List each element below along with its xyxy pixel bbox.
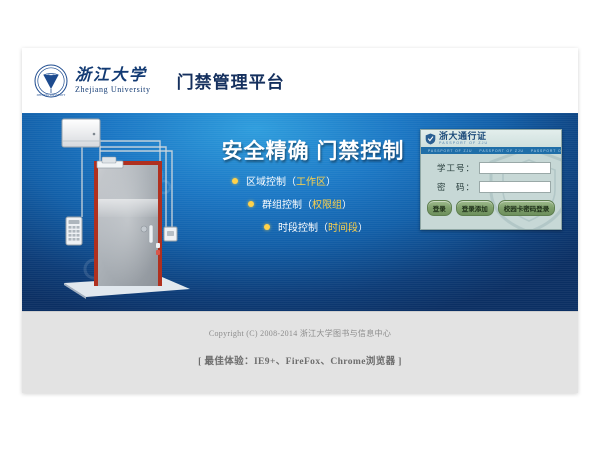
staff-id-input[interactable] [479, 162, 551, 174]
site-header: ZHEJIANG UNIVERSITY 浙江大学 Zhejiang Univer… [22, 48, 578, 113]
stripe-text: PASSPORT OF ZJU [428, 149, 472, 153]
password-input[interactable] [479, 181, 551, 193]
login-panel-header: 浙大通行证 PASSPORT OF ZJU [421, 130, 561, 147]
feature-highlight: 时间段 [328, 219, 358, 234]
university-name-en: Zhejiang University [75, 86, 151, 94]
login-panel-stripe: PASSPORT OF ZJU PASSPORT OF ZJU PASSPORT… [421, 147, 561, 154]
stripe-text: PASSPORT OF ZJU [531, 149, 561, 153]
copyright-text: Copyright (C) 2008-2014 浙江大学图书与信息中心 [209, 328, 391, 339]
password-row: 密 码： [427, 181, 555, 193]
university-name-cn: 浙江大学 [75, 68, 151, 84]
feature-suffix: ） [342, 196, 352, 211]
browser-recommendation-text: [ 最佳体验：IE9+、FireFox、Chrome浏览器 ] [198, 353, 402, 367]
login-panel: 浙大通行证 PASSPORT OF ZJU PASSPORT OF ZJU PA… [420, 129, 562, 230]
feature-suffix: ） [358, 219, 368, 234]
feature-highlight: 权限组 [312, 196, 342, 211]
feature-item-group-control: 群组控制（ 权限组 ） [208, 196, 418, 211]
page-root: ZHEJIANG UNIVERSITY 浙江大学 Zhejiang Univer… [0, 0, 600, 450]
staff-id-row: 学工号： [427, 162, 555, 174]
feature-suffix: ） [326, 173, 336, 188]
feature-item-area-control: 区域控制（ 工作区 ） [208, 173, 418, 188]
login-button-row: 登录 登录添加 校园卡密码登录 [427, 200, 555, 216]
login-panel-title-en: PASSPORT OF ZJU [439, 142, 488, 146]
stripe-text: PASSPORT OF ZJU [479, 149, 523, 153]
staff-id-label: 学工号： [427, 162, 479, 174]
login-panel-title-cn: 浙大通行证 [439, 132, 488, 141]
banner-slogan: 安全精确 门禁控制 [208, 135, 418, 165]
feature-highlight: 工作区 [296, 173, 326, 188]
site-container: ZHEJIANG UNIVERSITY 浙江大学 Zhejiang Univer… [22, 48, 578, 393]
feature-label: 群组控制（ [262, 196, 312, 211]
banner-slogan-block: 安全精确 门禁控制 区域控制（ 工作区 ） 群组控制（ 权限组 ） 时段控制（ [208, 135, 418, 234]
university-name: 浙江大学 Zhejiang University [75, 68, 151, 94]
shield-icon [425, 133, 436, 145]
password-label: 密 码： [427, 181, 479, 193]
feature-label: 时段控制（ [278, 219, 328, 234]
campus-card-login-button[interactable]: 校园卡密码登录 [498, 200, 556, 216]
door-access-control-illustration [42, 117, 207, 307]
site-footer: Copyright (C) 2008-2014 浙江大学图书与信息中心 [ 最佳… [22, 311, 578, 393]
login-form: 学工号： 密 码： 登录 登录添加 校园卡密码登录 [421, 154, 561, 216]
login-add-button[interactable]: 登录添加 [456, 200, 494, 216]
feature-label: 区域控制（ [246, 173, 296, 188]
university-logo[interactable]: ZHEJIANG UNIVERSITY 浙江大学 Zhejiang Univer… [34, 64, 151, 98]
bullet-icon [248, 201, 254, 207]
bullet-icon [264, 224, 270, 230]
svg-text:ZHEJIANG UNIVERSITY: ZHEJIANG UNIVERSITY [37, 94, 66, 97]
hero-banner: 安全精确 门禁控制 区域控制（ 工作区 ） 群组控制（ 权限组 ） 时段控制（ [22, 113, 578, 311]
zju-seal-icon: ZHEJIANG UNIVERSITY [34, 64, 68, 98]
login-panel-title-block: 浙大通行证 PASSPORT OF ZJU [439, 132, 488, 146]
page-title: 门禁管理平台 [177, 68, 285, 93]
bullet-icon [232, 178, 238, 184]
feature-item-time-control: 时段控制（ 时间段 ） [208, 219, 418, 234]
login-button[interactable]: 登录 [427, 200, 452, 216]
